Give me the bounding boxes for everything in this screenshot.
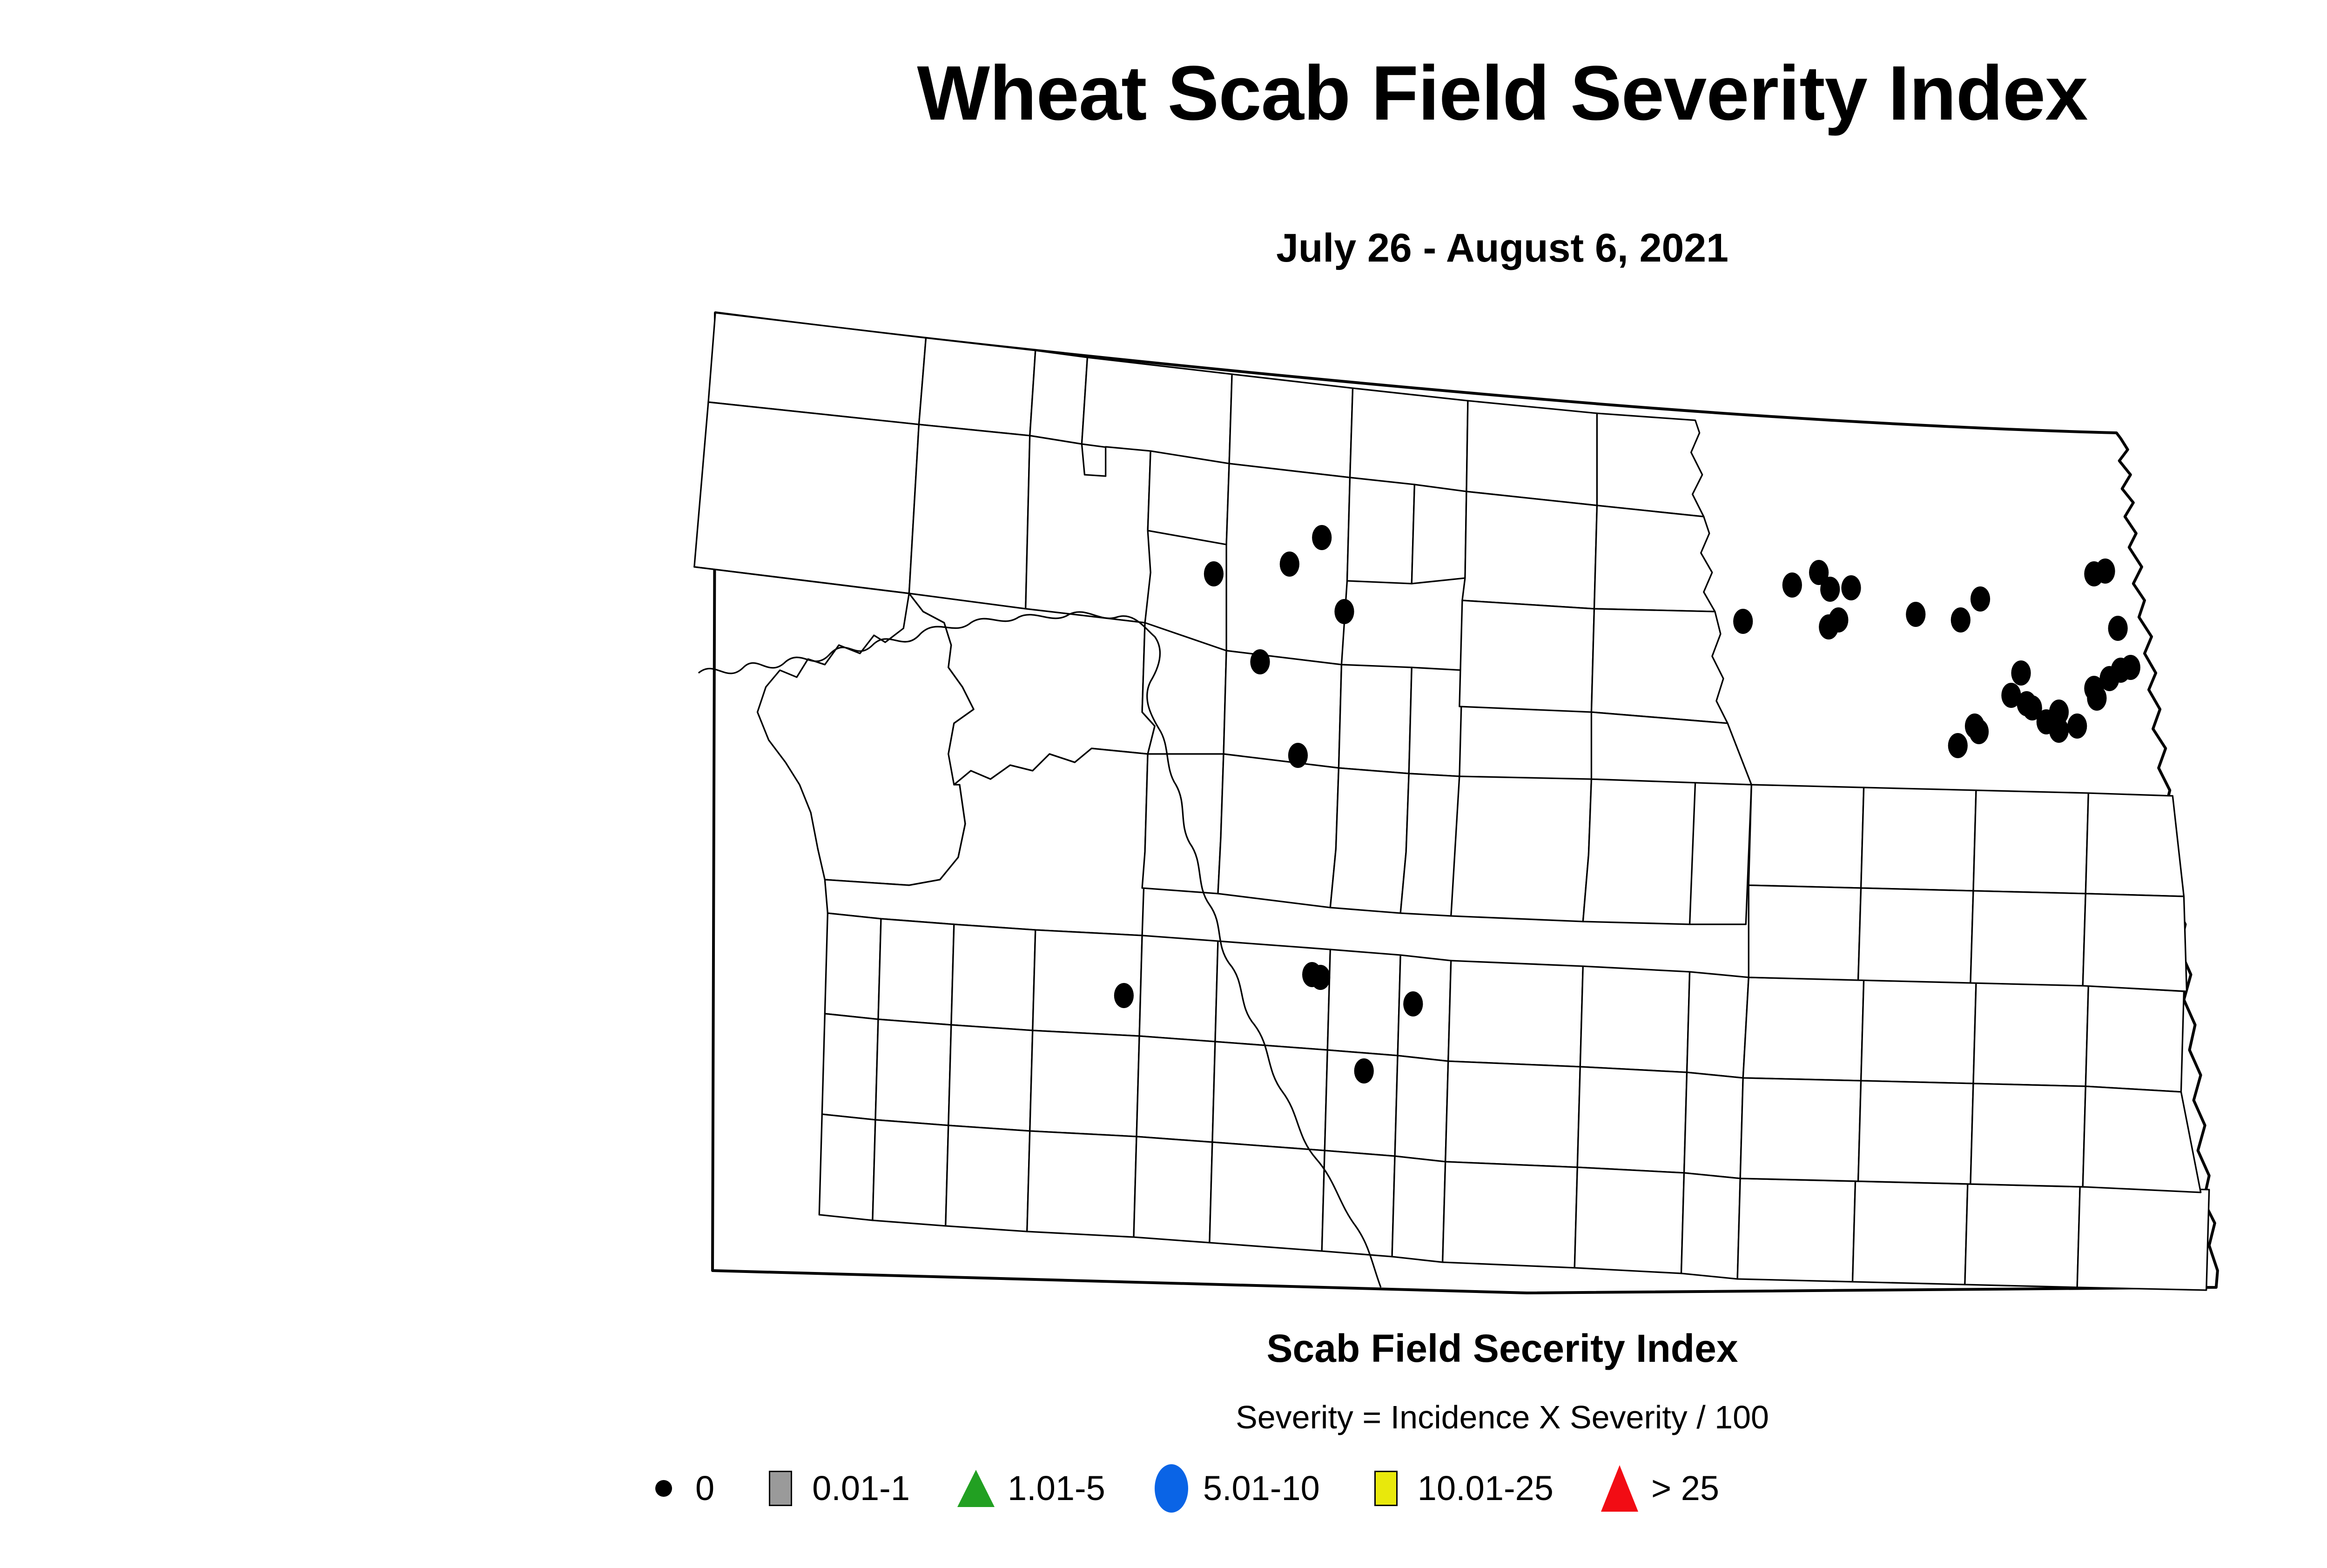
sample-point[interactable] bbox=[1311, 965, 1330, 990]
legend-formula: Severity = Incidence X Severity / 100 bbox=[0, 1401, 2327, 1433]
legend-item-0[interactable]: 0 bbox=[642, 1463, 714, 1514]
sample-point[interactable] bbox=[1971, 586, 1990, 612]
sample-point[interactable] bbox=[1280, 552, 1299, 577]
sample-point[interactable] bbox=[1829, 607, 1848, 633]
sample-point[interactable] bbox=[1951, 607, 1971, 633]
north-dakota-county-map[interactable] bbox=[628, 293, 2313, 1299]
legend-item-2[interactable]: 1.01-5 bbox=[955, 1463, 1105, 1514]
sample-point[interactable] bbox=[1204, 561, 1224, 586]
dot-icon bbox=[642, 1463, 685, 1514]
page-title: Wheat Scab Field Severity Index bbox=[0, 55, 2327, 132]
square-icon bbox=[759, 1463, 802, 1514]
legend-label-0: 0 bbox=[685, 1471, 714, 1506]
triangle-icon bbox=[955, 1463, 997, 1514]
sample-point[interactable] bbox=[2095, 559, 2115, 584]
sample-point[interactable] bbox=[1334, 599, 1354, 624]
legend-label-1: 0.01-1 bbox=[802, 1471, 910, 1506]
legend-item-1[interactable]: 0.01-1 bbox=[759, 1463, 910, 1514]
sample-point[interactable] bbox=[1969, 719, 1989, 744]
legend-item-3[interactable]: 5.01-10 bbox=[1150, 1463, 1320, 1514]
legend-item-4[interactable]: 10.01-25 bbox=[1365, 1463, 1554, 1514]
sample-point[interactable] bbox=[1906, 602, 1925, 627]
sample-point[interactable] bbox=[1820, 577, 1840, 602]
sample-point[interactable] bbox=[1733, 609, 1753, 634]
circle-icon bbox=[1150, 1463, 1193, 1514]
sample-point[interactable] bbox=[1948, 733, 1968, 758]
legend-label-4: 10.01-25 bbox=[1407, 1471, 1554, 1506]
legend-heading: Scab Field Secerity Index bbox=[0, 1329, 2327, 1368]
sample-point[interactable] bbox=[2108, 616, 2128, 641]
sample-point[interactable] bbox=[1782, 572, 1802, 598]
legend-label-3: 5.01-10 bbox=[1193, 1471, 1320, 1506]
sample-point[interactable] bbox=[2111, 658, 2131, 683]
sample-point[interactable] bbox=[1354, 1058, 1374, 1083]
page-root: Wheat Scab Field Severity Index July 26 … bbox=[0, 0, 2327, 1568]
page-subtitle: July 26 - August 6, 2021 bbox=[0, 228, 2327, 268]
sample-point[interactable] bbox=[1114, 983, 1134, 1008]
sample-point[interactable] bbox=[2049, 718, 2069, 743]
legend-label-2: 1.01-5 bbox=[997, 1471, 1105, 1506]
sample-point[interactable] bbox=[2067, 713, 2087, 739]
sample-point[interactable] bbox=[2087, 686, 2106, 711]
sample-point[interactable] bbox=[1288, 743, 1308, 768]
legend-item-5[interactable]: > 25 bbox=[1598, 1463, 1719, 1514]
map-container[interactable] bbox=[628, 293, 2313, 1299]
county-polygons bbox=[694, 313, 2218, 1293]
sample-point[interactable] bbox=[1403, 991, 1423, 1016]
triangle-icon bbox=[1598, 1463, 1641, 1514]
legend-label-5: > 25 bbox=[1641, 1471, 1719, 1506]
square-icon bbox=[1365, 1463, 1407, 1514]
sample-point[interactable] bbox=[2011, 660, 2031, 686]
sample-point[interactable] bbox=[1250, 649, 1270, 674]
sample-point[interactable] bbox=[1312, 525, 1332, 550]
legend: 0 0.01-1 1.01-5 5.01-10 10.01-25 > 25 bbox=[642, 1447, 2327, 1530]
sample-point[interactable] bbox=[1841, 575, 1861, 600]
